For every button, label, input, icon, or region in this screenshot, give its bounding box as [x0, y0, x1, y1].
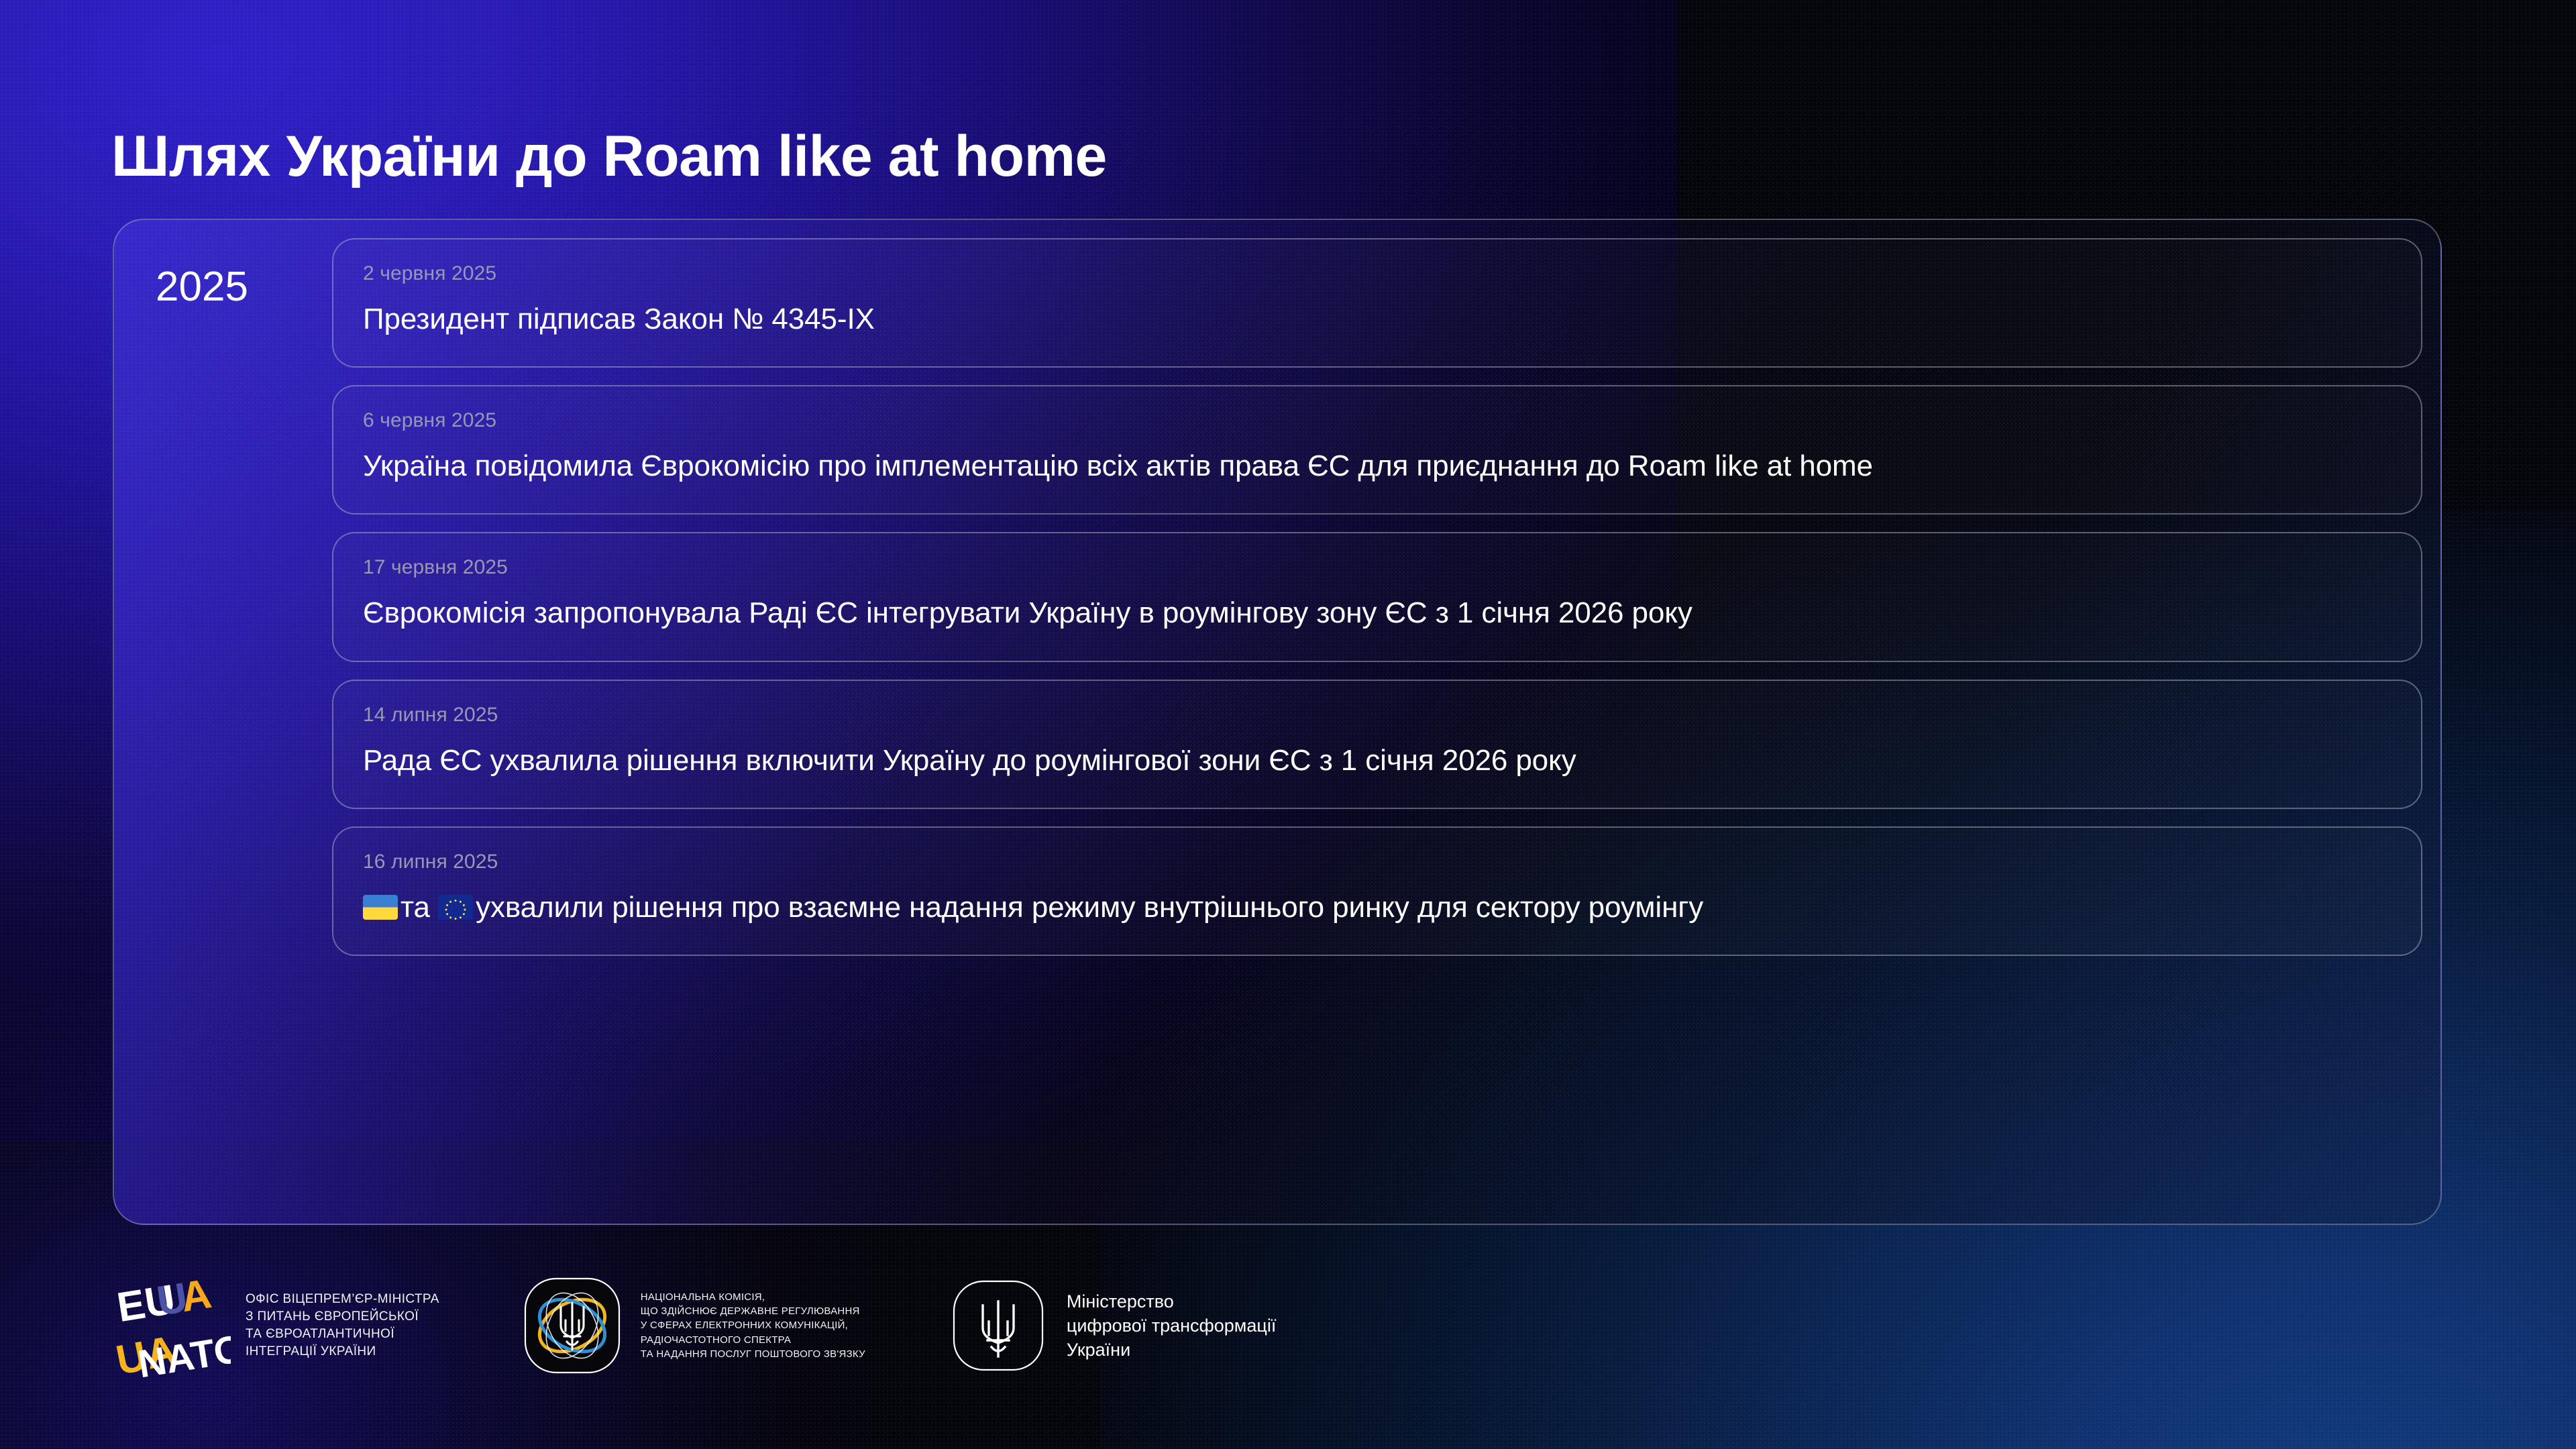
footer-logo-vice-pm-office: EU U A UA NATO ОФІС ВІЦЕПРЕМ’ЄР-МІНІСТРА…	[113, 1267, 439, 1385]
timeline-event-card[interactable]: 14 липня 2025 Рада ЄС ухвалила рішення в…	[332, 680, 2422, 809]
event-date: 17 червня 2025	[363, 556, 2392, 579]
event-date: 2 червня 2025	[363, 262, 2392, 285]
event-text-after: ухвалили рішення про взаємне надання реж…	[476, 891, 1703, 924]
ministry-trident-logo-icon	[945, 1272, 1052, 1379]
timeline-year-label: 2025	[156, 263, 248, 311]
footer-logo-nkek: НАЦІОНАЛЬНА КОМІСІЯ, ЩО ЗДІЙСНЮЄ ДЕРЖАВН…	[519, 1272, 865, 1379]
footer-caption: ОФІС ВІЦЕПРЕМ’ЄР-МІНІСТРА З ПИТАНЬ ЄВРОП…	[246, 1291, 439, 1361]
nkek-trident-rings-logo-icon	[519, 1272, 626, 1379]
footer-logo-ministry: Міністерство цифрової трансформації Укра…	[945, 1272, 1276, 1379]
svg-text:A: A	[178, 1271, 215, 1321]
event-text: Україна повідомила Єврокомісію про імпле…	[363, 447, 2392, 485]
ukraine-flag-icon	[363, 895, 398, 920]
event-text: та	[363, 888, 2392, 926]
timeline-event-card[interactable]: 16 липня 2025 та	[332, 826, 2422, 956]
footer-logos: EU U A UA NATO ОФІС ВІЦЕПРЕМ’ЄР-МІНІСТРА…	[113, 1267, 1276, 1385]
footer-caption: НАЦІОНАЛЬНА КОМІСІЯ, ЩО ЗДІЙСНЮЄ ДЕРЖАВН…	[641, 1290, 865, 1361]
event-text: Єврокомісія запропонувала Раді ЄС інтегр…	[363, 594, 2392, 632]
event-date: 6 червня 2025	[363, 409, 2392, 432]
timeline-event-card[interactable]: 17 червня 2025 Єврокомісія запропонувала…	[332, 532, 2422, 661]
footer-caption: Міністерство цифрової трансформації Укра…	[1067, 1289, 1276, 1362]
timeline-event-card[interactable]: 2 червня 2025 Президент підписав Закон №…	[332, 238, 2422, 368]
page-title: Шлях України до Roam like at home	[111, 125, 1107, 189]
event-text-middle: та	[400, 891, 430, 924]
timeline-panel: 2025 2 червня 2025 Президент підписав За…	[113, 219, 2442, 1225]
event-text: Рада ЄС ухвалила рішення включити Україн…	[363, 741, 2392, 780]
timeline-event-card[interactable]: 6 червня 2025 Україна повідомила Євроком…	[332, 385, 2422, 515]
event-text: Президент підписав Закон № 4345-IX	[363, 300, 2392, 338]
event-date: 14 липня 2025	[363, 704, 2392, 727]
event-date: 16 липня 2025	[363, 851, 2392, 873]
eu-ua-nato-logo-icon: EU U A UA NATO	[113, 1267, 231, 1385]
eu-flag-icon	[438, 895, 473, 920]
slide-root: Шлях України до Roam like at home 2025 2…	[0, 0, 2576, 1449]
timeline-event-list: 2 червня 2025 Президент підписав Закон №…	[332, 238, 2422, 973]
